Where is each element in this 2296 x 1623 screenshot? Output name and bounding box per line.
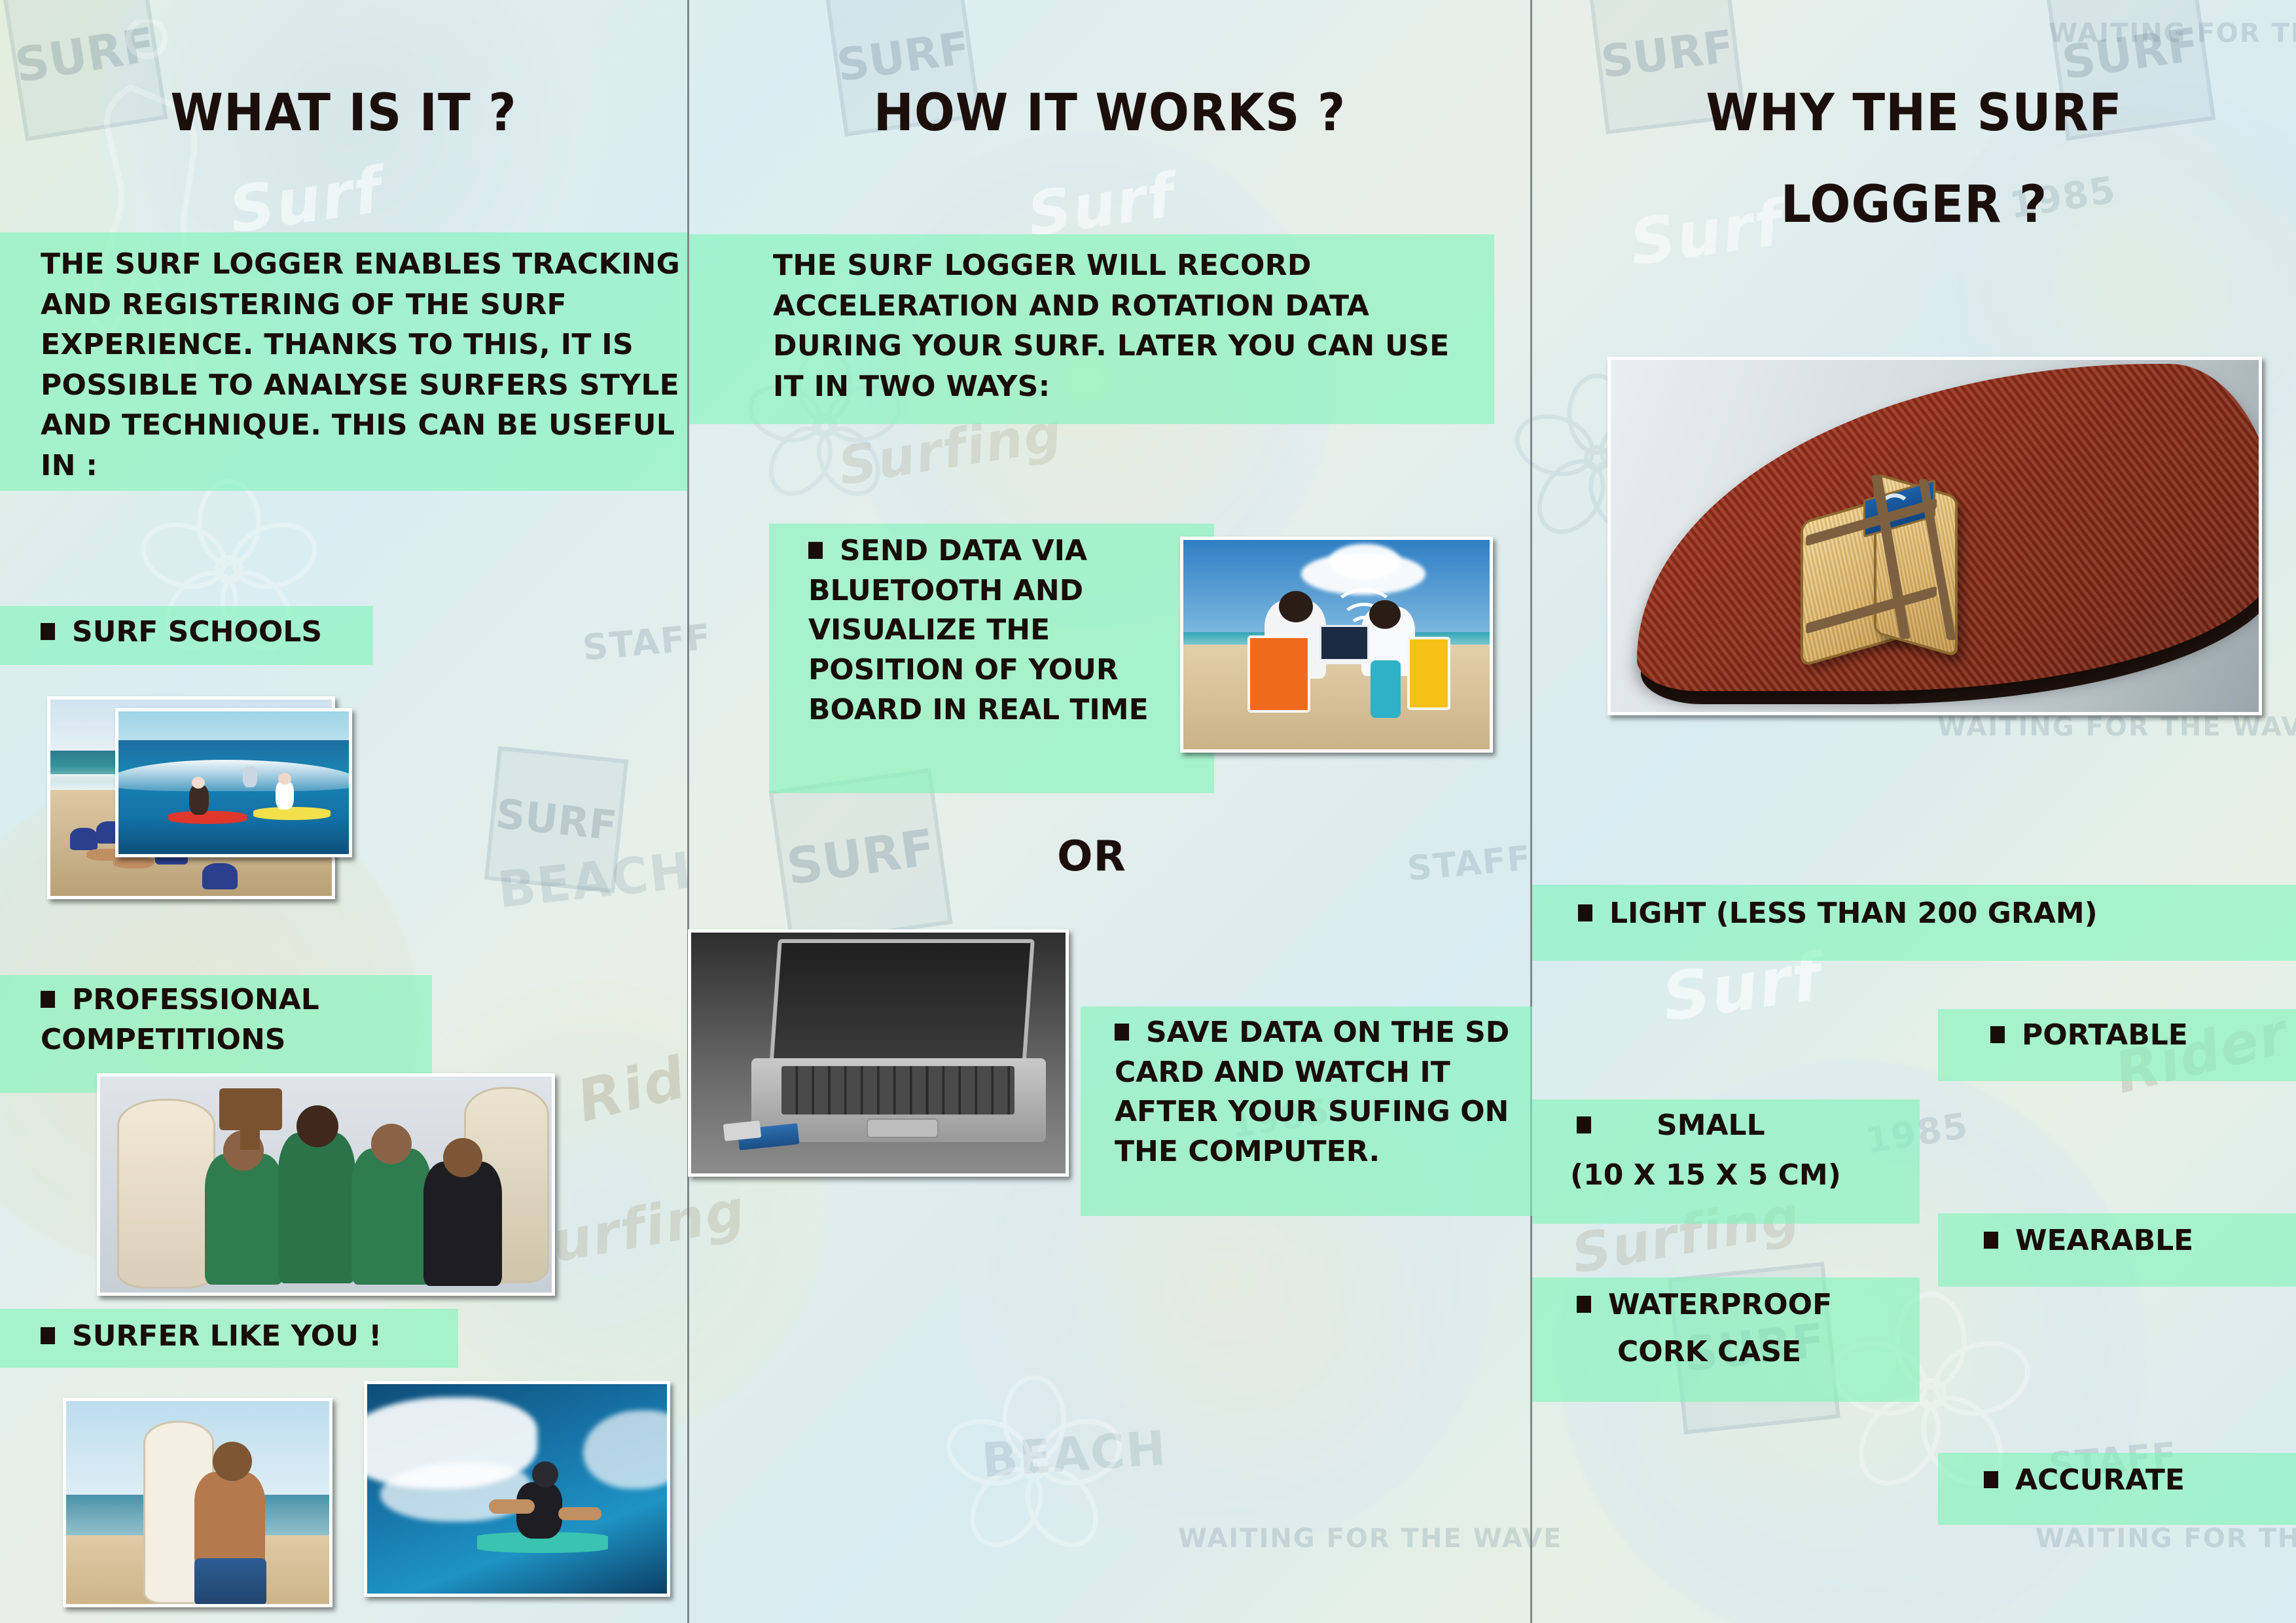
feature-cork-case: cork case — [1617, 1332, 1958, 1372]
bullet-square-icon — [1578, 904, 1592, 921]
laptop-sd-card-photo — [688, 929, 1069, 1177]
bullet-surf-schools: Surf schools — [41, 613, 433, 652]
brochure-page: SURF SURF SURF SURF SURF SURF SURF BEACH… — [0, 0, 2296, 1623]
bullet-square-icon — [1984, 1232, 1998, 1249]
feature-light: Light (less than 200 gram) — [1578, 894, 2296, 934]
competition-team-photo — [97, 1073, 555, 1296]
feature-wearable: Wearable — [1984, 1221, 2296, 1261]
surfers-riding-wave-photo — [115, 708, 352, 857]
column-why-the-surf-logger: Why the Surf Logger ? Light (less than 2… — [1532, 0, 2296, 1623]
bullet-square-icon — [1984, 1471, 1998, 1488]
feature-label: Small — [1657, 1109, 1765, 1142]
feature-small: Small — [1577, 1106, 1917, 1146]
bullet-square-icon — [1577, 1296, 1591, 1313]
column-2-intro-text: The Surf Logger will record acceleration… — [773, 245, 1486, 406]
surfboard-cork-device-render — [1607, 357, 2262, 715]
option-one-label: Send data via Bluetooth and visualize th… — [808, 534, 1149, 726]
bullet-label: professional competitions — [41, 983, 319, 1056]
option-two-save-on-sd-card: save data on the SD card and watch it af… — [1115, 1013, 1527, 1172]
bullet-label: surfer like you ! — [72, 1319, 382, 1353]
connector-or: OR — [689, 832, 1494, 881]
bullet-square-icon — [41, 623, 55, 640]
feature-small-dimensions: (10 x 15 x 5 cm) — [1570, 1156, 1924, 1196]
feature-portable: Portable — [1990, 1016, 2296, 1056]
feature-label: accurate — [2015, 1463, 2185, 1497]
feature-accurate: accurate — [1984, 1461, 2296, 1501]
bullet-label: Surf schools — [72, 615, 322, 649]
bullet-professional-competitions: professional competitions — [41, 980, 446, 1060]
column-2-heading: How it works ? — [672, 84, 1547, 143]
feature-label: Light (less than 200 gram) — [1609, 897, 2098, 930]
column-3-heading-line2: Logger ? — [1517, 175, 2296, 234]
feature-label: Wearable — [2015, 1224, 2193, 1257]
feature-label: waterproof — [1608, 1288, 1832, 1321]
feature-waterproof: waterproof — [1577, 1285, 1917, 1325]
bullet-square-icon — [1115, 1024, 1129, 1041]
option-one-send-via-bluetooth: Send data via Bluetooth and visualize th… — [808, 531, 1214, 730]
bullet-square-icon — [1990, 1026, 2005, 1043]
column-what-is-it: What is it ? The Surf Logger enables tra… — [0, 0, 687, 1623]
column-3-heading-line1: Why the Surf — [1517, 84, 2296, 143]
column-1-intro-text: The Surf Logger enables tracking and reg… — [41, 244, 708, 486]
surfer-with-board-photo — [63, 1398, 332, 1607]
feature-label: Portable — [2022, 1018, 2188, 1052]
column-1-heading: What is it ? — [0, 84, 701, 143]
bullet-square-icon — [808, 542, 823, 559]
bullet-surfer-like-you: surfer like you ! — [41, 1317, 499, 1357]
column-how-it-works: How it works ? The Surf Logger will reco… — [689, 0, 1530, 1623]
bullet-square-icon — [41, 1327, 55, 1344]
beach-laptop-couple-photo — [1180, 537, 1493, 753]
option-two-label: save data on the SD card and watch it af… — [1115, 1016, 1509, 1168]
bullet-square-icon — [1577, 1116, 1591, 1133]
bullet-square-icon — [41, 991, 55, 1008]
surfer-big-wave-photo — [364, 1381, 670, 1597]
